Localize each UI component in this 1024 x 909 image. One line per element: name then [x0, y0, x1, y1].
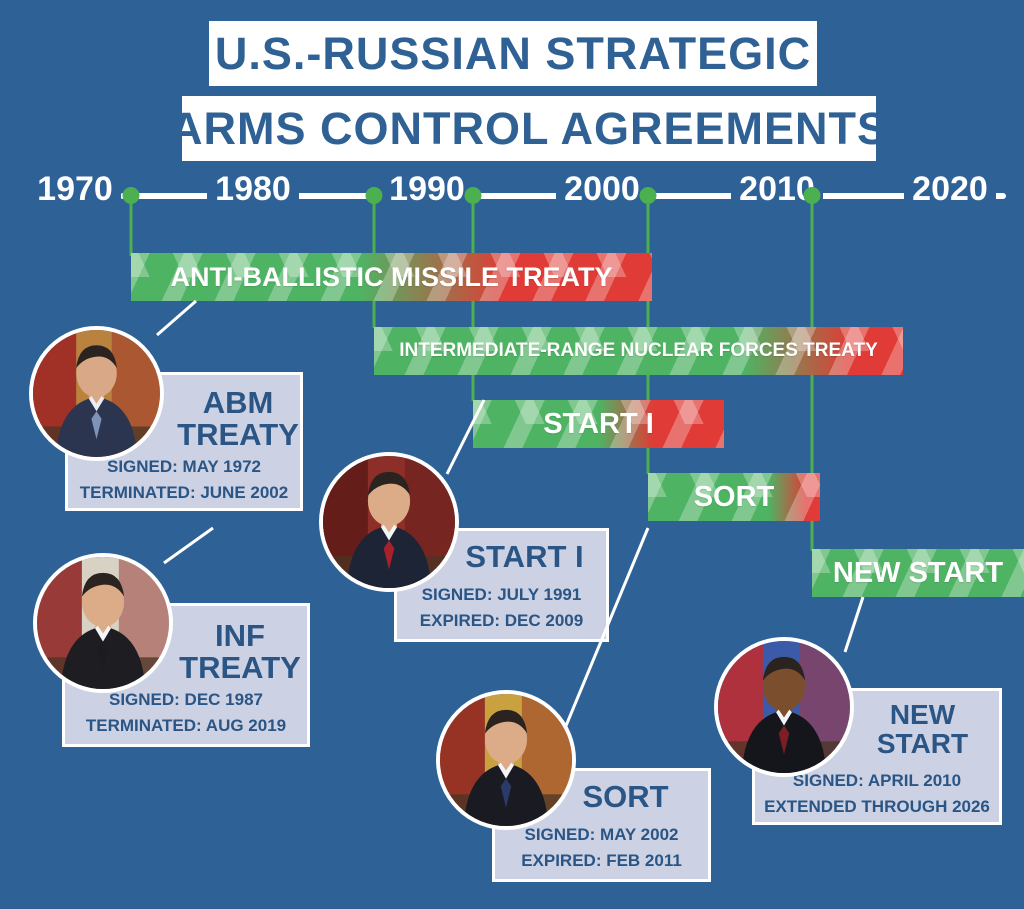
newstart-bar[interactable]: NEW START: [812, 549, 1024, 597]
nixon-photo: [29, 326, 164, 461]
obama-photo: [714, 637, 854, 777]
bar-label: INTERMEDIATE-RANGE NUCLEAR FORCES TREATY: [374, 340, 903, 362]
card-detail-line-2: TERMINATED: AUG 2019: [65, 716, 307, 736]
card-detail-line-1: SIGNED: DEC 1987: [65, 690, 307, 710]
leader-line-abm-card: [157, 301, 196, 335]
timeline-dot-2010: [804, 187, 821, 204]
timeline-year-2010: 2010: [739, 170, 815, 209]
card-title: ABM TREATY: [173, 387, 303, 450]
page-title-line2: ARMS CONTROL AGREEMENTS: [182, 96, 876, 161]
timeline-dot-1987: [366, 187, 383, 204]
timeline-year-2020: 2020: [912, 170, 988, 209]
inf-bar[interactable]: INTERMEDIATE-RANGE NUCLEAR FORCES TREATY: [374, 327, 903, 375]
bar-label: ANTI-BALLISTIC MISSILE TREATY: [131, 262, 652, 293]
bush41-photo: [319, 452, 459, 592]
card-title: INF TREATY: [175, 620, 305, 683]
card-detail-line-2: TERMINATED: JUNE 2002: [68, 483, 300, 503]
timeline-year-1990: 1990: [389, 170, 465, 209]
timeline-year-1970: 1970: [37, 170, 113, 209]
card-detail-lines: SIGNED: MAY 2002EXPIRED: FEB 2011: [495, 825, 708, 871]
bush43-photo: [436, 690, 576, 830]
page-title-line1: U.S.-RUSSIAN STRATEGIC: [209, 21, 817, 86]
timeline-stem-1972: [130, 196, 133, 256]
card-detail-line-2: EXTENDED THROUGH 2026: [755, 797, 999, 817]
card-detail-lines: SIGNED: MAY 1972TERMINATED: JUNE 2002: [68, 457, 300, 503]
timeline-dot-1972: [123, 187, 140, 204]
bar-label: NEW START: [812, 557, 1024, 590]
bar-label: START I: [473, 408, 724, 441]
card-detail-line-2: EXPIRED: FEB 2011: [495, 851, 708, 871]
abm-bar[interactable]: ANTI-BALLISTIC MISSILE TREATY: [131, 253, 652, 301]
card-detail-lines: SIGNED: DEC 1987TERMINATED: AUG 2019: [65, 690, 307, 736]
infographic-canvas: U.S.-RUSSIAN STRATEGIC ARMS CONTROL AGRE…: [0, 0, 1024, 909]
card-detail-lines: SIGNED: JULY 1991EXPIRED: DEC 2009: [397, 585, 606, 631]
timeline-year-2000: 2000: [564, 170, 640, 209]
bar-label: SORT: [648, 481, 820, 514]
timeline-dot-2002: [640, 187, 657, 204]
card-detail-lines: SIGNED: APRIL 2010EXTENDED THROUGH 2026: [755, 771, 999, 817]
card-detail-line-2: EXPIRED: DEC 2009: [397, 611, 606, 631]
reagan-photo: [33, 553, 173, 693]
sort-bar[interactable]: SORT: [648, 473, 820, 521]
start1-bar[interactable]: START I: [473, 400, 724, 448]
card-detail-line-1: SIGNED: JULY 1991: [397, 585, 606, 605]
timeline-dot-1991: [465, 187, 482, 204]
card-title: NEW START: [845, 701, 1000, 758]
card-detail-line-1: SIGNED: MAY 2002: [495, 825, 708, 845]
leader-line-inf-card: [164, 528, 213, 563]
card-title: START I: [437, 541, 612, 573]
timeline-year-1980: 1980: [215, 170, 291, 209]
